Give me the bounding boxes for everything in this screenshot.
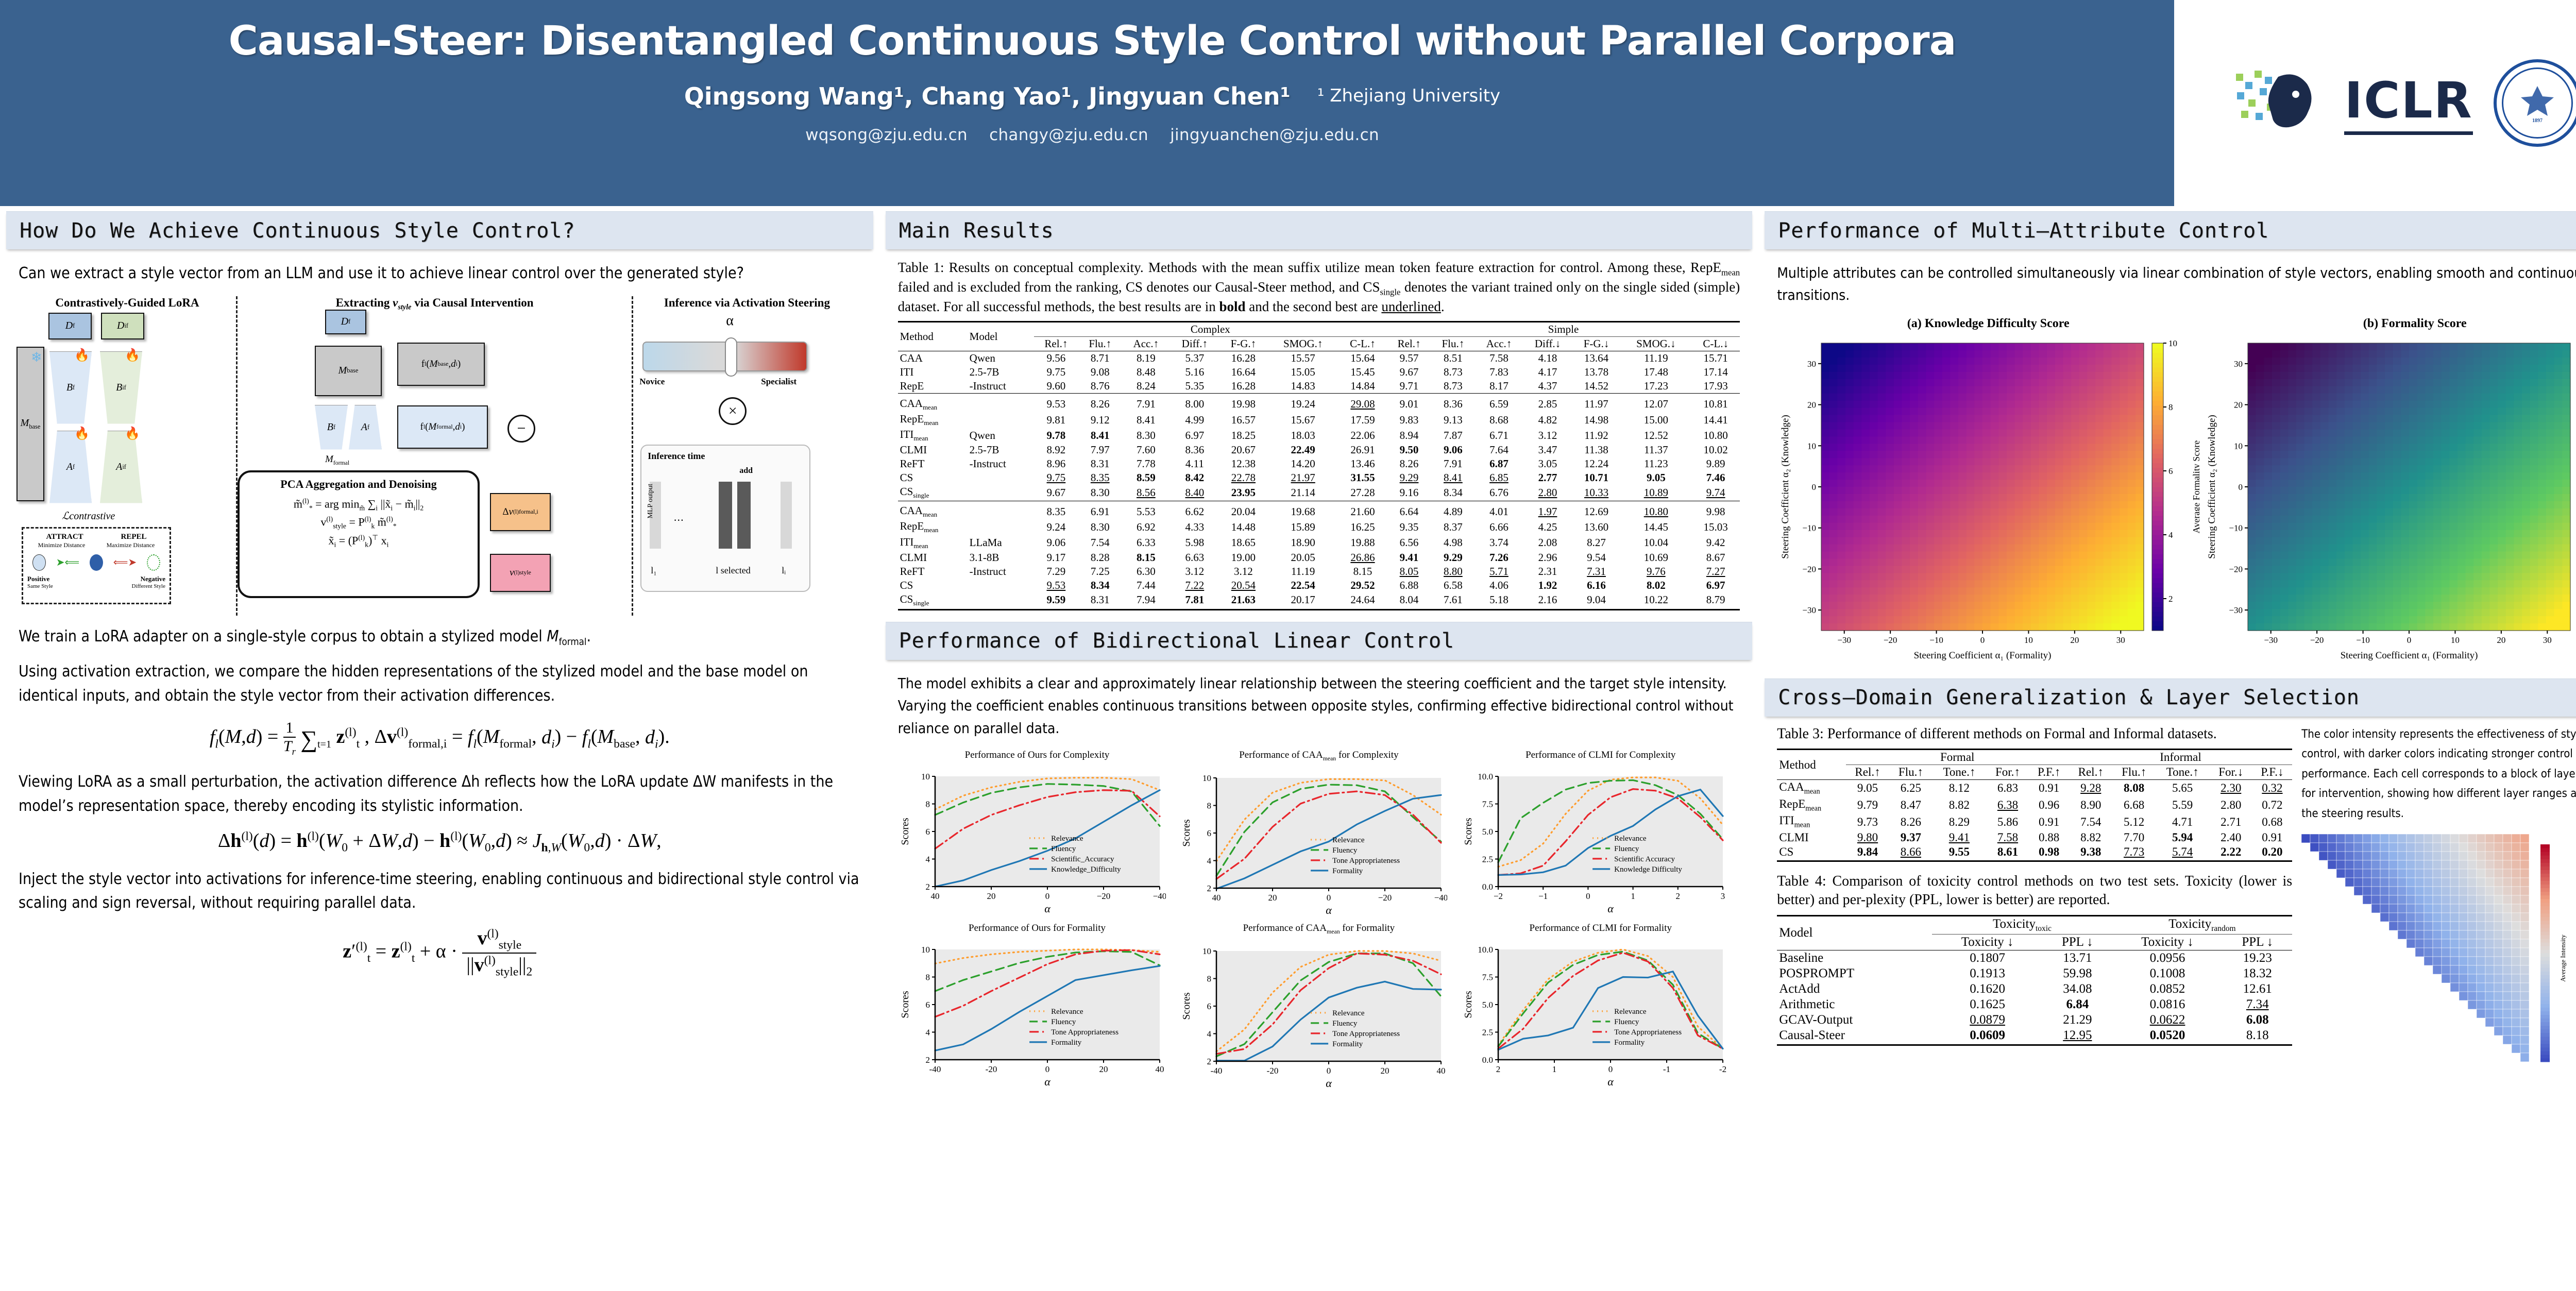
cell-value: 2.40: [2210, 830, 2252, 845]
cell-value: 18.65: [1219, 535, 1267, 551]
cell-value: 7.64: [1475, 443, 1523, 457]
line-chart-svg: -40-2002040246810ScoresαRelevanceFluency…: [1179, 936, 1447, 1090]
inference-time-box: Inference time add MLP output ⋯ l₁ l sel…: [640, 445, 810, 592]
cell-value: 8.35: [1078, 471, 1122, 485]
cell-value: 9.17: [1034, 551, 1078, 565]
svg-text:−30: −30: [1803, 605, 1817, 615]
slider-handle[interactable]: [725, 337, 737, 377]
negative-sublabel: Different Style: [132, 583, 165, 589]
cell-value: 15.05: [1267, 365, 1338, 379]
heatmap-title: (a) Knowledge Difficulty Score: [1777, 317, 2199, 331]
snowflake-icon: ❄: [31, 350, 42, 365]
cell-value: 9.41: [1932, 830, 1986, 845]
th-col: F-G.↑: [1219, 337, 1267, 351]
l1-label: l₁: [651, 565, 656, 576]
cell-value: 29.52: [1338, 579, 1387, 592]
cell-value: 8.30: [1122, 428, 1170, 443]
figure-col1-title: Contrastively-Guided LoRA: [24, 296, 231, 310]
cell-value: 15.89: [1267, 519, 1338, 535]
svg-text:6: 6: [2168, 466, 2173, 476]
svg-text:20: 20: [1268, 893, 1277, 903]
cell-value: 14.52: [1572, 379, 1621, 394]
cell-value: 8.47: [1889, 797, 1932, 814]
page-title: Causal-Steer: Disentangled Continuous St…: [31, 20, 2154, 63]
cell-method: ITImean: [898, 535, 968, 551]
cell-value: 8.36: [1431, 397, 1475, 412]
cell-value: 8.30: [1078, 485, 1122, 501]
cell-model: [968, 519, 1034, 535]
cell-value: 15.03: [1691, 519, 1740, 535]
cell-value: 6.92: [1122, 519, 1170, 535]
cell-method: CLMI: [1777, 830, 1845, 845]
cell-value: 8.31: [1078, 457, 1122, 471]
svg-text:−20: −20: [1884, 635, 1897, 645]
cell-value: 12.95: [2043, 1028, 2112, 1043]
svg-text:20: 20: [1099, 1064, 1108, 1074]
cell-value: 9.98: [1691, 504, 1740, 519]
bidirectional-text: The model exhibits a clear and approxima…: [898, 672, 1740, 739]
table-row: CAAQwen9.568.718.195.3716.2815.5715.649.…: [898, 351, 1740, 366]
table4-caption: Table 4: Comparison of toxicity control …: [1777, 872, 2292, 910]
table-row: CSsingle9.598.317.947.8121.6320.1724.648…: [898, 592, 1740, 608]
cell-value: 2.16: [1523, 592, 1572, 608]
table-row: ITI2.5-7B9.759.088.485.1616.6415.0515.45…: [898, 365, 1740, 379]
subtract-operator-icon: −: [507, 415, 535, 443]
cell-value: 8.26: [1889, 813, 1932, 830]
svg-text:10: 10: [2024, 635, 2033, 645]
legend-entry: Fluency: [1614, 845, 1639, 853]
cell-value: 8.19: [1122, 351, 1170, 366]
cell-value: 2.96: [1523, 551, 1572, 565]
layer-selection-heatmap: Average Intensity: [2301, 834, 2576, 1085]
cell-value: 7.61: [1431, 592, 1475, 608]
cell-value: 19.00: [1219, 551, 1267, 565]
cell-value: 6.68: [2113, 797, 2156, 814]
th-col: Rel.↑: [1387, 337, 1431, 351]
cell-value: 0.0816: [2112, 997, 2223, 1012]
cell-value: 0.1620: [1932, 981, 2043, 997]
cell-method: CLMI: [898, 551, 968, 565]
cell-value: 8.68: [1475, 412, 1523, 428]
legend-entry: Formality: [1051, 1039, 1082, 1047]
cell-value: 7.91: [1431, 457, 1475, 471]
cell-value: 8.96: [1034, 457, 1078, 471]
svg-text:−20: −20: [1378, 893, 1392, 903]
contrastive-legend: ATTRACT REPEL Minimize Distance Maximize…: [22, 527, 171, 604]
cell-value: 9.57: [1387, 351, 1431, 366]
svg-text:30: 30: [1807, 359, 1816, 369]
cell-value: 3.12: [1219, 565, 1267, 579]
cell-model: [968, 485, 1034, 501]
svg-text:7.5: 7.5: [1482, 972, 1493, 982]
cell-value: 4.98: [1431, 535, 1475, 551]
svg-text:α: α: [1326, 904, 1332, 916]
zju-seal-logo-icon: 1897: [2494, 59, 2576, 147]
cell-value: 19.68: [1267, 504, 1338, 519]
cell-value: 7.60: [1122, 443, 1170, 457]
cell-value: 23.95: [1219, 485, 1267, 501]
cell-value: 0.1008: [2112, 966, 2223, 981]
svg-text:Scores: Scores: [1181, 992, 1192, 1020]
chart-title: Performance of CLMI for Formality: [1461, 923, 1740, 934]
cell-value: 9.28: [2069, 780, 2113, 797]
cell-value: 16.25: [1338, 519, 1387, 535]
svg-text:5.0: 5.0: [1482, 1000, 1493, 1010]
cell-model: 2.5-7B: [968, 365, 1034, 379]
legend-entry: Fluency: [1614, 1018, 1639, 1026]
cell-value: 19.98: [1219, 397, 1267, 412]
heatmap-title: (b) Formality Score: [2204, 317, 2576, 331]
th-col: Diff.↑: [1170, 337, 1219, 351]
table-row: CS9.848.669.558.610.989.387.735.742.220.…: [1777, 845, 2292, 859]
th-method: Method: [1777, 750, 1845, 780]
cell-value: 8.26: [1078, 397, 1122, 412]
legend-entry: Relevance: [1614, 1008, 1647, 1016]
cell-method: CAAmean: [1777, 780, 1845, 797]
cell-value: 6.76: [1475, 485, 1523, 501]
cell-model: ActAdd: [1777, 981, 1932, 997]
cell-value: 7.27: [1691, 565, 1740, 579]
svg-text:0.0: 0.0: [1482, 882, 1493, 892]
cell-value: 4.99: [1170, 412, 1219, 428]
svg-text:−10: −10: [2356, 635, 2370, 645]
cell-value: 6.62: [1170, 504, 1219, 519]
svg-text:0: 0: [1608, 1064, 1613, 1074]
legend-entry: Scientific Accuracy: [1614, 855, 1675, 863]
chart-title: Performance of CAAmean for Complexity: [1179, 750, 1458, 762]
svg-text:1897: 1897: [2532, 118, 2543, 124]
cell-model: 2.5-7B: [968, 443, 1034, 457]
svg-text:Average Formality Score: Average Formality Score: [2191, 440, 2199, 533]
cell-value: 16.64: [1219, 365, 1267, 379]
equation-activation-diff: fl(M,d) = 1 Tr ∑t=1 z(l)t , Δv(l)formal,…: [19, 719, 861, 758]
cell-value: 5.35: [1170, 379, 1219, 394]
cell-method: CS: [898, 579, 968, 592]
svg-text:2: 2: [2168, 594, 2173, 604]
cell-value: 9.76: [1621, 565, 1692, 579]
cell-method: RepEmean: [898, 412, 968, 428]
cell-value: 14.45: [1621, 519, 1692, 535]
cell-value: 10.81: [1691, 397, 1740, 412]
equation-delta-h: Δh(l)(d) = h(l)(W0 + ΔW,d) − h(l)(W0,d) …: [19, 829, 861, 855]
panel-multiattribute: Performance of Multi–Attribute Control M…: [1765, 211, 2576, 670]
svg-text:0: 0: [1812, 482, 1817, 492]
chart-4: Performance of CAAmean for Formality-40-…: [1179, 923, 1458, 1093]
panel-body-crossdomain: Table 3: Performance of different method…: [1765, 717, 2576, 1090]
svg-text:0.0: 0.0: [1482, 1055, 1493, 1065]
cell-value: 12.38: [1219, 457, 1267, 471]
table-row: CLMI2.5-7B8.927.977.608.3620.6722.4926.9…: [898, 443, 1740, 457]
cell-value: 8.82: [2069, 830, 2113, 845]
heatmap-svg: −30−20−1001020303020100−10−20−30Steering…: [2204, 334, 2576, 664]
cell-value: 9.79: [1846, 797, 1890, 814]
cell-value: 8.51: [1431, 351, 1475, 366]
repel-label: REPEL: [121, 533, 147, 541]
line-chart-svg: 40200−20−40246810ScoresαRelevanceFluency…: [1179, 762, 1447, 917]
cell-value: 8.73: [1431, 365, 1475, 379]
panel-title-main-results: Main Results: [899, 219, 1054, 243]
cell-value: 8.42: [1170, 471, 1219, 485]
cell-value: 21.29: [2043, 1012, 2112, 1028]
cell-model: [968, 579, 1034, 592]
cell-value: 9.80: [1846, 830, 1890, 845]
legend-entry: Tone Appropriateness: [1614, 1028, 1682, 1037]
cell-value: 5.98: [1170, 535, 1219, 551]
cell-value: 6.66: [1475, 519, 1523, 535]
th-col: Rel.↑: [1846, 765, 1890, 780]
legend-entry: Scientific_Accuracy: [1051, 855, 1114, 863]
svg-text:−30: −30: [2229, 605, 2243, 615]
af-box-2: Af: [349, 405, 382, 450]
table-row: POSPROMPT0.191359.980.100818.32: [1777, 966, 2292, 981]
svg-text:−20: −20: [2229, 564, 2243, 574]
cell-value: 19.88: [1338, 535, 1387, 551]
cell-value: 9.38: [2069, 845, 2113, 859]
cell-method: ReFT: [898, 457, 968, 471]
svg-text:10: 10: [1807, 441, 1816, 451]
legend-entry: Tone Appropriateness: [1333, 857, 1400, 865]
cell-value: 0.1625: [1932, 997, 2043, 1012]
heatmap-svg: −30−20−1001020303020100−10−20−30Steering…: [1777, 334, 2199, 664]
cell-value: 4.25: [1523, 519, 1572, 535]
cell-value: 8.41: [1431, 471, 1475, 485]
df-box-2: Df: [325, 310, 366, 334]
legend-entry: Relevance: [1051, 1008, 1083, 1016]
svg-text:0: 0: [1327, 893, 1331, 903]
table-row: Baseline0.180713.710.095619.23: [1777, 950, 2292, 966]
svg-text:6: 6: [1207, 1001, 1212, 1011]
figure-col-intervention: Extracting vstyle via Causal Interventio…: [238, 296, 633, 616]
cell-model: POSPROMPT: [1777, 966, 1932, 981]
cell-value: 2.77: [1523, 471, 1572, 485]
panel-title-multiattribute: Performance of Multi–Attribute Control: [1778, 219, 2269, 243]
zju-seal-text: 1897: [2514, 78, 2561, 128]
cell-value: 22.49: [1267, 443, 1338, 457]
cell-value: 17.14: [1691, 365, 1740, 379]
cell-value: 3.74: [1475, 535, 1523, 551]
cell-method: ITImean: [1777, 813, 1845, 830]
attract-label: ATTRACT: [46, 533, 83, 541]
cell-value: 21.14: [1267, 485, 1338, 501]
bf-box: Bf: [49, 352, 92, 424]
last-layer-bar: [781, 482, 792, 549]
attract-sub: Minimize Distance: [38, 541, 86, 549]
delta-v-box: Δv(l)formal,i: [490, 493, 551, 531]
table-row: CLMI3.1-8B9.178.288.156.6319.0020.0526.8…: [898, 551, 1740, 565]
table-row: CSsingle9.678.308.568.4023.9521.1427.289…: [898, 485, 1740, 501]
cell-value: 7.46: [1691, 471, 1740, 485]
th-group-random: Toxicityrandom: [2112, 915, 2292, 934]
svg-text:8: 8: [925, 972, 930, 982]
th-group-toxic: Toxicitytoxic: [1932, 915, 2112, 934]
th-col: Acc.↑: [1122, 337, 1170, 351]
cell-value: 13.71: [2043, 950, 2112, 966]
svg-text:0: 0: [1327, 1066, 1331, 1076]
cell-value: 9.05: [1846, 780, 1890, 797]
cell-value: 12.52: [1621, 428, 1692, 443]
svg-text:Steering Coefficient α₂ (Knowl: Steering Coefficient α₂ (Knowledge): [2207, 415, 2217, 559]
panel-body-bidirectional: The model exhibits a clear and approxima…: [886, 660, 1753, 1097]
table-row: CS9.758.358.598.4222.7821.9731.559.298.4…: [898, 471, 1740, 485]
author-list: Qingsong Wang¹, Chang Yao¹, Jingyuan Che…: [684, 82, 1291, 110]
cell-value: 8.37: [1431, 519, 1475, 535]
cell-value: 9.06: [1431, 443, 1475, 457]
positive-sublabel: Same Style: [27, 583, 53, 589]
cell-method: ITImean: [898, 428, 968, 443]
svg-text:−20: −20: [2310, 635, 2324, 645]
line-chart-svg: -40-2002040246810ScoresαRelevanceFluency…: [898, 934, 1166, 1089]
cell-value: 20.05: [1267, 551, 1338, 565]
cell-value: 9.16: [1387, 485, 1431, 501]
cell-value: 9.78: [1034, 428, 1078, 443]
cell-value: 8.56: [1122, 485, 1170, 501]
iclr-pixel-logo-icon: [2231, 63, 2324, 143]
cell-value: 3.47: [1523, 443, 1572, 457]
cell-value: 4.11: [1170, 457, 1219, 471]
cell-model: [968, 471, 1034, 485]
cell-value: 8.41: [1078, 428, 1122, 443]
cell-value: 2.71: [2210, 813, 2252, 830]
svg-text:−30: −30: [1838, 635, 1852, 645]
cell-value: 22.54: [1267, 579, 1338, 592]
chart-title: Performance of Ours for Formality: [898, 923, 1177, 934]
cell-model: Arithmetic: [1777, 997, 1932, 1012]
th-model: Model: [968, 322, 1034, 351]
svg-text:4: 4: [925, 1027, 930, 1037]
tri-heatmap-svg: Average Intensity: [2301, 834, 2576, 1082]
cell-model: Qwen: [968, 351, 1034, 366]
cell-value: 12.07: [1621, 397, 1692, 412]
table-row: ActAdd0.162034.080.085212.61: [1777, 981, 2292, 997]
cell-value: 9.24: [1034, 519, 1078, 535]
mbase-box: Mbase: [16, 347, 44, 501]
multiply-operator-icon: ×: [719, 397, 747, 425]
svg-text:30: 30: [2543, 635, 2552, 645]
table1-caption: Table 1: Results on conceptual complexit…: [898, 259, 1740, 316]
th-col: C-L.↓: [1691, 337, 1740, 351]
svg-text:−10: −10: [1803, 523, 1817, 533]
cell-value: 4.33: [1170, 519, 1219, 535]
svg-text:2.5: 2.5: [1482, 1027, 1493, 1037]
chart-0: Performance of Ours for Complexity40200−…: [898, 750, 1177, 920]
column-left: How Do We Achieve Continuous Style Contr…: [0, 206, 879, 1291]
inference-time-label: Inference time: [641, 446, 809, 462]
cell-value: 9.53: [1034, 579, 1078, 592]
th-col: Flu.↑: [1889, 765, 1932, 780]
cell-value: 11.19: [1267, 565, 1338, 579]
svg-text:10: 10: [921, 772, 930, 782]
cell-value: 11.92: [1572, 428, 1621, 443]
cell-method: CAAmean: [898, 504, 968, 519]
cell-value: 9.54: [1572, 551, 1621, 565]
chart-5: Performance of CLMI for Formality210-1-2…: [1461, 923, 1740, 1093]
anchor-circle-icon: [90, 554, 103, 571]
svg-text:4: 4: [2168, 530, 2173, 540]
cell-model: LLaMa: [968, 535, 1034, 551]
cell-value: 9.53: [1034, 397, 1078, 412]
cell-value: 26.91: [1338, 443, 1387, 457]
chart-2: Performance of CLMI for Complexity−2−101…: [1461, 750, 1740, 920]
svg-text:20: 20: [987, 891, 995, 901]
cell-value: 7.22: [1170, 579, 1219, 592]
novice-label: Novice: [639, 377, 665, 387]
th-col: SMOG.↑: [1267, 337, 1338, 351]
cell-value: 8.34: [1078, 579, 1122, 592]
th-col: Acc.↑: [1475, 337, 1523, 351]
cell-value: 5.94: [2156, 830, 2210, 845]
table-row: RepEmean9.819.128.414.9916.5715.6717.599…: [898, 412, 1740, 428]
svg-text:10: 10: [2451, 635, 2460, 645]
legend-entry: Formality: [1333, 867, 1364, 875]
cell-value: 4.17: [1523, 365, 1572, 379]
cell-value: 9.75: [1034, 471, 1078, 485]
cell-value: 5.65: [2156, 780, 2210, 797]
cell-value: 21.97: [1267, 471, 1338, 485]
cell-value: 9.29: [1387, 471, 1431, 485]
cell-value: 6.30: [1122, 565, 1170, 579]
cell-value: 0.20: [2252, 845, 2293, 859]
cell-value: 8.18: [2223, 1028, 2292, 1043]
cell-value: 22.06: [1338, 428, 1387, 443]
cell-value: 11.38: [1572, 443, 1621, 457]
cell-value: 9.67: [1387, 365, 1431, 379]
panel-header-method: How Do We Achieve Continuous Style Contr…: [6, 211, 873, 249]
legend-entry: Relevance: [1614, 835, 1647, 843]
iclr-wordmark: ICLR: [2344, 72, 2472, 135]
cell-value: 7.29: [1034, 565, 1078, 579]
cell-value: 9.41: [1387, 551, 1431, 565]
svg-text:−40: −40: [1434, 893, 1447, 903]
cell-value: 0.32: [2252, 780, 2293, 797]
cell-value: 6.08: [2223, 1012, 2292, 1028]
svg-text:−40: −40: [1153, 891, 1165, 901]
panel-method: How Do We Achieve Continuous Style Contr…: [6, 211, 873, 995]
cell-value: 10.02: [1691, 443, 1740, 457]
legend-entry: Fluency: [1333, 1019, 1358, 1027]
svg-text:4: 4: [925, 855, 930, 864]
cell-value: 8.40: [1170, 485, 1219, 501]
cell-method: RepEmean: [1777, 797, 1845, 814]
cell-value: 22.78: [1219, 471, 1267, 485]
cell-value: 8.61: [1986, 845, 2029, 859]
svg-text:6: 6: [925, 1000, 930, 1010]
cell-value: 13.60: [1572, 519, 1621, 535]
cell-model: [968, 592, 1034, 608]
table-row: ITImeanQwen9.788.418.306.9718.2518.0322.…: [898, 428, 1740, 443]
cell-value: 8.04: [1387, 592, 1431, 608]
charts-row-formality: Performance of Ours for Formality-40-200…: [898, 923, 1740, 1093]
svg-text:2: 2: [1496, 1064, 1501, 1074]
column-middle: Main Results Table 1: Results on concept…: [879, 206, 1759, 1291]
svg-text:-20: -20: [1267, 1066, 1279, 1076]
svg-text:10: 10: [2168, 338, 2177, 348]
legend-entry: Fluency: [1051, 1018, 1076, 1026]
table-row: CAAmean9.538.267.918.0019.9819.2429.089.…: [898, 397, 1740, 412]
table-row: ReFT-Instruct7.297.256.303.123.1211.198.…: [898, 565, 1740, 579]
cell-method: CAA: [898, 351, 968, 366]
cell-value: 8.90: [2069, 797, 2113, 814]
cell-value: 9.01: [1387, 397, 1431, 412]
cell-value: 14.98: [1572, 412, 1621, 428]
cell-value: 10.80: [1691, 428, 1740, 443]
cell-value: 9.42: [1691, 535, 1740, 551]
cell-value: 8.73: [1431, 379, 1475, 394]
cell-value: 2.85: [1523, 397, 1572, 412]
svg-text:Scores: Scores: [900, 991, 911, 1018]
cell-value: 18.03: [1267, 428, 1338, 443]
column-right: Performance of Multi–Attribute Control M…: [1758, 206, 2576, 1291]
panel-header-bidirectional: Performance of Bidirectional Linear Cont…: [886, 622, 1753, 660]
